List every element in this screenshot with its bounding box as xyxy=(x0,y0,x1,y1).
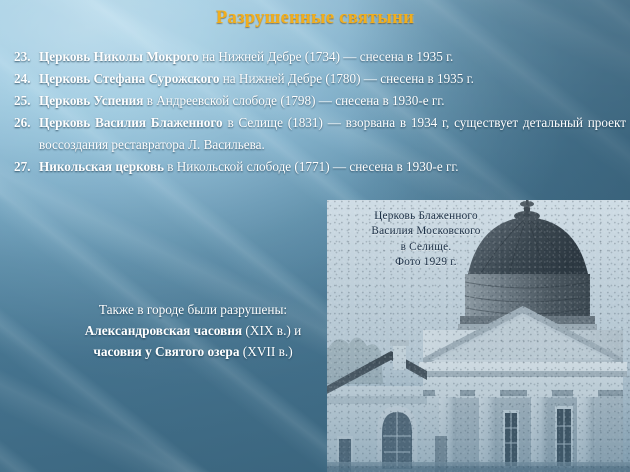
note-bold-2: часовня у Святого озера xyxy=(93,344,239,359)
list-item-number: 26. xyxy=(14,112,39,134)
page-title: Разрушенные святыни xyxy=(0,8,630,29)
list-item-number: 24. xyxy=(14,68,39,90)
list-item-bold-lead: Церковь Стефана Сурожского xyxy=(39,71,219,86)
list-item-bold-lead: Церковь Василия Блаженного xyxy=(39,115,223,130)
list-item-text: Церковь Успения в Андреевской слободе (1… xyxy=(39,90,626,112)
photo-caption-line-2: Василия Московского xyxy=(338,224,514,239)
photo-caption-line-4: Фото 1929 г. xyxy=(338,255,514,270)
list-item-number: 25. xyxy=(14,90,39,112)
list-item-bold-lead: Церковь Николы Мокрого xyxy=(39,49,199,64)
list-item: 25. Церковь Успения в Андреевской слобод… xyxy=(14,90,626,112)
list-item-bold-lead: Церковь Успения xyxy=(39,93,143,108)
note-part-1: Также в городе были разрушены: xyxy=(99,302,287,317)
additional-note: Также в городе были разрушены: Александр… xyxy=(62,299,324,362)
note-bold-1: Александровская часовня xyxy=(85,323,242,338)
photo-caption: Церковь Блаженного Василия Московского в… xyxy=(338,209,514,270)
list-item-text: Церковь Стефана Сурожского на Нижней Деб… xyxy=(39,68,626,90)
list-item-rest: в Андреевской слободе (1798) — снесена в… xyxy=(143,93,444,108)
list-item-rest: на Нижней Дебре (1734) — снесена в 1935 … xyxy=(199,49,453,64)
list-item: 27. Никольская церковь в Никольской слоб… xyxy=(14,156,626,178)
list-item-text: Церковь Василия Блаженного в Селище (183… xyxy=(39,112,626,156)
list-item-number: 27. xyxy=(14,156,39,178)
list-item-rest: на Нижней Дебре (1780) — снесена в 1935 … xyxy=(219,71,473,86)
note-part-3: (XVII в.) xyxy=(239,344,292,359)
list-item: 23. Церковь Николы Мокрого на Нижней Деб… xyxy=(14,46,626,68)
list-item-rest: в Никольской слободе (1771) — снесена в … xyxy=(164,159,459,174)
slide-canvas: Церковь Блаженного Василия Московского в… xyxy=(0,0,630,472)
photo-caption-line-3: в Селище. xyxy=(338,240,514,255)
photo-caption-line-1: Церковь Блаженного xyxy=(338,209,514,224)
list-item-number: 23. xyxy=(14,46,39,68)
list-item-text: Церковь Николы Мокрого на Нижней Дебре (… xyxy=(39,46,626,68)
list-item-bold-lead: Никольская церковь xyxy=(39,159,164,174)
list-item-text: Никольская церковь в Никольской слободе … xyxy=(39,156,626,178)
destroyed-shrines-list: 23. Церковь Николы Мокрого на Нижней Деб… xyxy=(14,46,626,177)
note-part-2: (XIX в.) и xyxy=(242,323,301,338)
list-item: 26. Церковь Василия Блаженного в Селище … xyxy=(14,112,626,156)
list-item: 24. Церковь Стефана Сурожского на Нижней… xyxy=(14,68,626,90)
